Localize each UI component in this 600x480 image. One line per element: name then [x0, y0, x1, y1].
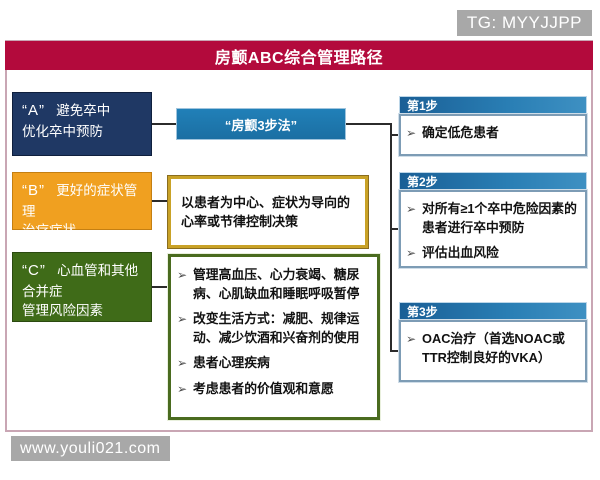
bullet-arrow-icon: ➢ — [406, 200, 422, 218]
abc-c-line3: 管理风险因素 — [22, 301, 142, 321]
comorbidity-bullet-item-text: 管理高血压、心力衰竭、糖尿病、心肌缺血和睡眠呼吸暂停 — [193, 266, 369, 303]
step-1-header: 第1步 — [399, 96, 587, 114]
patient-centered-decision-box[interactable]: 以患者为中心、症状为导向的心率或节律控制决策 — [168, 176, 368, 248]
comorbidity-bullet-item-text: 患者心理疾病 — [193, 354, 270, 373]
comorbidity-bullet-item: ➢患者心理疾病 — [177, 354, 369, 373]
telegram-watermark-text: TG: MYYJJPP — [467, 13, 582, 33]
abc-a-line2: 优化卒中预防 — [22, 122, 142, 142]
abc-c-heading: 心血管和其他 — [57, 263, 138, 278]
step-1-bullet-item-text: 确定低危患者 — [422, 124, 499, 143]
abc-c-letter: “C” — [22, 262, 46, 279]
comorbidity-bullet-item: ➢管理高血压、心力衰竭、糖尿病、心肌缺血和睡眠呼吸暂停 — [177, 266, 369, 303]
comorbidity-bullet-item: ➢考虑患者的价值观和意愿 — [177, 380, 369, 399]
patient-centered-decision-text: 以患者为中心、症状为导向的心率或节律控制决策 — [171, 193, 365, 232]
step-3-body[interactable]: ➢OAC治疗（首选NOAC或TTR控制良好的VKA） — [399, 320, 587, 382]
bullet-arrow-icon: ➢ — [177, 310, 193, 328]
step-2-bullet-item: ➢对所有≥1个卒中危险因素的患者进行卒中预防 — [406, 200, 578, 237]
comorbidity-management-box[interactable]: ➢管理高血压、心力衰竭、糖尿病、心肌缺血和睡眠呼吸暂停➢改变生活方式：减肥、规律… — [168, 254, 380, 420]
abc-box-c[interactable]: “C” 心血管和其他 合并症 管理风险因素 — [12, 252, 152, 322]
site-watermark: www.youli021.com — [11, 436, 170, 461]
step-2-bullet-item-text: 对所有≥1个卒中危险因素的患者进行卒中预防 — [422, 200, 578, 237]
step-2-bullet-item-text: 评估出血风险 — [422, 244, 499, 263]
step-1-bullet-item: ➢确定低危患者 — [406, 124, 578, 143]
bullet-arrow-icon: ➢ — [406, 244, 422, 262]
connector-a-to-3step — [152, 123, 176, 125]
step-1-body[interactable]: ➢确定低危患者 — [399, 114, 587, 156]
bullet-arrow-icon: ➢ — [177, 354, 193, 372]
three-step-method-box[interactable]: “房颤3步法” — [176, 108, 346, 140]
bullet-arrow-icon: ➢ — [406, 330, 422, 348]
step-2-bullet-item: ➢评估出血风险 — [406, 244, 578, 263]
abc-a-letter: “A” — [22, 102, 45, 119]
bullet-arrow-icon: ➢ — [177, 380, 193, 398]
comorbidity-bullet-list: ➢管理高血压、心力衰竭、糖尿病、心肌缺血和睡眠呼吸暂停➢改变生活方式：减肥、规律… — [171, 257, 377, 398]
step-2-header: 第2步 — [399, 172, 587, 190]
comorbidity-bullet-item: ➢改变生活方式：减肥、规律运动、减少饮酒和兴奋剂的使用 — [177, 310, 369, 347]
abc-c-line2: 合并症 — [22, 282, 142, 302]
step-1-bullet-list: ➢确定低危患者 — [401, 116, 585, 143]
diagram-canvas: TG: MYYJJPP www.youli021.com 房颤ABC综合管理路径… — [0, 0, 600, 480]
step-2-header-label: 第2步 — [407, 173, 438, 190]
abc-a-heading: 避免卒中 — [56, 103, 110, 118]
connector-c-to-green — [152, 286, 168, 288]
step-3-bullet-item-text: OAC治疗（首选NOAC或TTR控制良好的VKA） — [422, 330, 578, 367]
page-title: 房颤ABC综合管理路径 — [215, 44, 383, 68]
three-step-method-label: “房颤3步法” — [225, 115, 297, 134]
abc-b-letter: “B” — [22, 182, 45, 199]
diagram-title-band: 房颤ABC综合管理路径 — [5, 41, 593, 70]
abc-box-b[interactable]: “B” 更好的症状管理 治疗症状 — [12, 172, 152, 230]
abc-b-line2: 治疗症状 — [22, 221, 142, 241]
step-2-bullet-list: ➢对所有≥1个卒中危险因素的患者进行卒中预防➢评估出血风险 — [401, 192, 585, 263]
abc-box-a[interactable]: “A” 避免卒中 优化卒中预防 — [12, 92, 152, 156]
step-1-header-label: 第1步 — [407, 97, 438, 114]
comorbidity-bullet-item-text: 改变生活方式：减肥、规律运动、减少饮酒和兴奋剂的使用 — [193, 310, 369, 347]
step-3-header-label: 第3步 — [407, 303, 438, 320]
connector-3step-to-trunk — [346, 123, 392, 125]
step-3-header: 第3步 — [399, 302, 587, 320]
bullet-arrow-icon: ➢ — [177, 266, 193, 284]
connector-trunk-vertical — [390, 123, 392, 351]
telegram-watermark: TG: MYYJJPP — [457, 10, 592, 36]
site-watermark-text: www.youli021.com — [20, 440, 161, 458]
step-3-bullet-item: ➢OAC治疗（首选NOAC或TTR控制良好的VKA） — [406, 330, 578, 367]
connector-b-to-center — [152, 200, 168, 202]
step-3-bullet-list: ➢OAC治疗（首选NOAC或TTR控制良好的VKA） — [401, 322, 585, 367]
bullet-arrow-icon: ➢ — [406, 124, 422, 142]
step-2-body[interactable]: ➢对所有≥1个卒中危险因素的患者进行卒中预防➢评估出血风险 — [399, 190, 587, 268]
comorbidity-bullet-item-text: 考虑患者的价值观和意愿 — [193, 380, 334, 399]
